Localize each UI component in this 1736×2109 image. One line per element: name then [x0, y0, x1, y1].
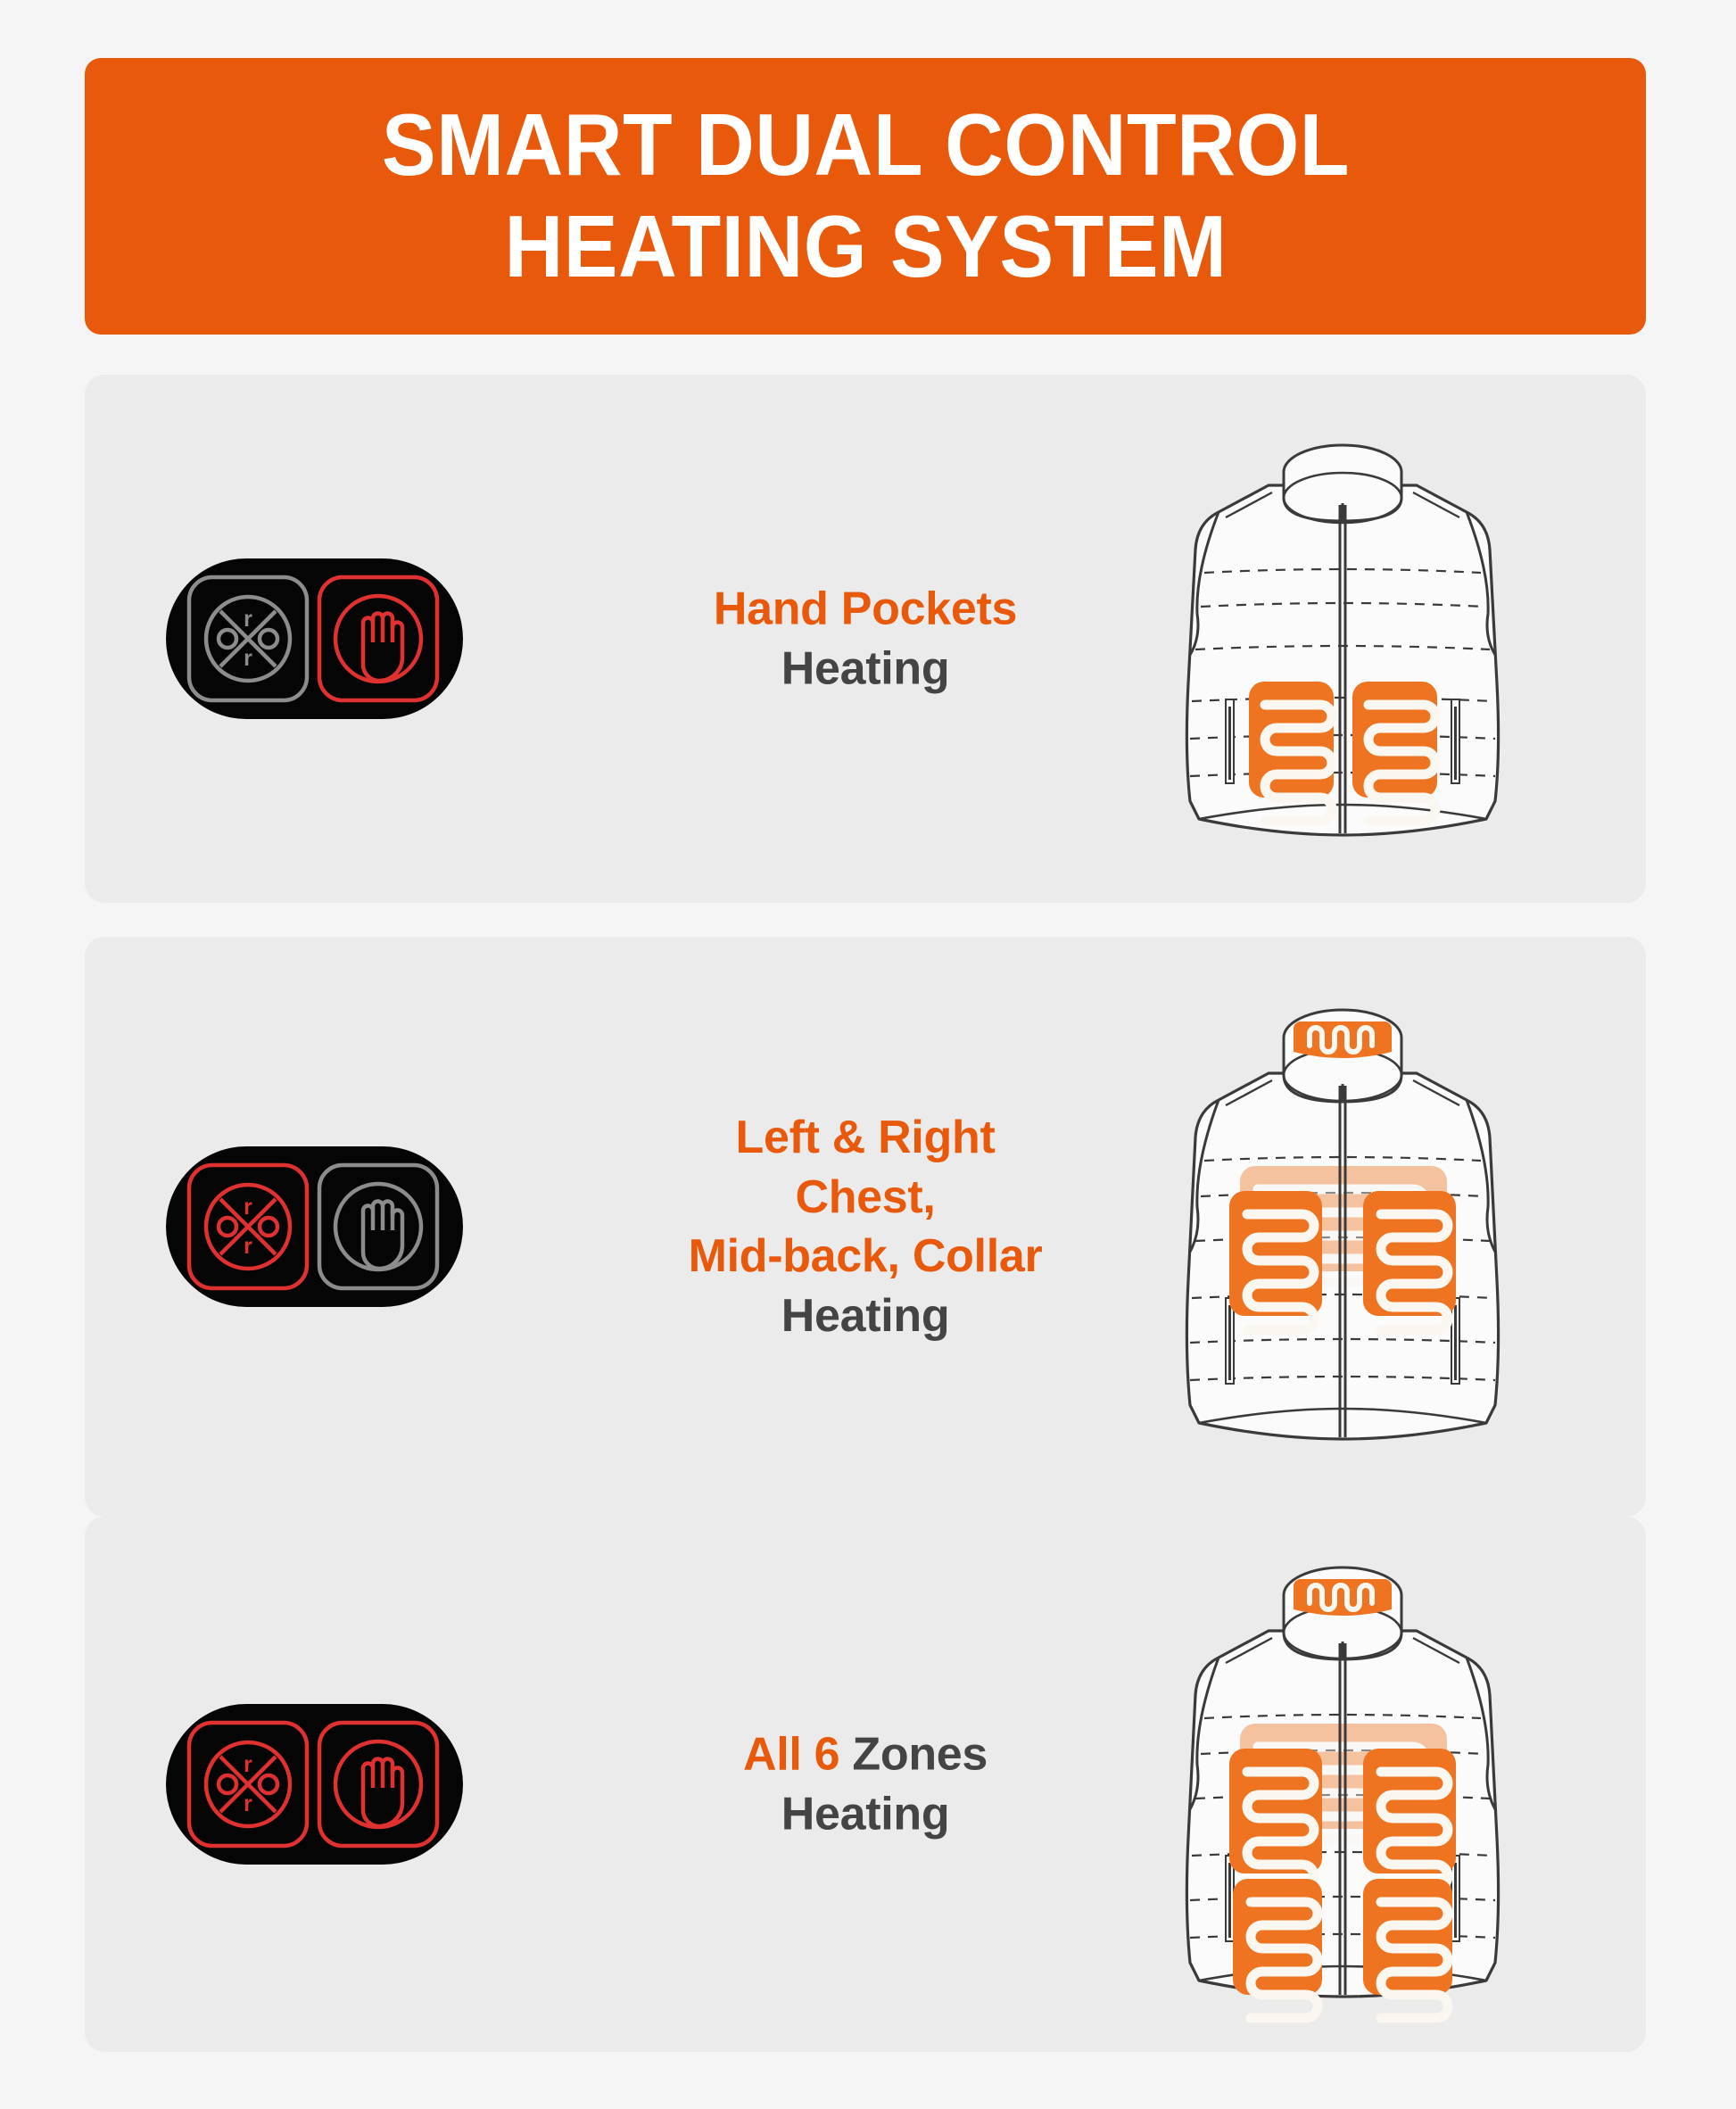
panel-card-chest-midback-collar: r r Left & Right Chest: [85, 937, 1646, 1517]
heat-zone-right-chest: [1363, 1749, 1456, 1888]
caption-title: All 6 Zones: [580, 1724, 1151, 1784]
header-banner: SMART DUAL CONTROL HEATING SYSTEM: [85, 58, 1646, 335]
controller-chest-midback-collar[interactable]: r r: [165, 1145, 464, 1308]
caption-subtitle: Heating: [580, 1784, 1151, 1844]
caption-title-line-2: Chest,: [580, 1167, 1151, 1227]
caption-count: All 6: [743, 1728, 839, 1780]
caption-title: Hand Pockets: [580, 579, 1151, 639]
caption-zones-word: Zones: [839, 1728, 988, 1780]
controller-body: [166, 1146, 463, 1307]
vest-illustration-all-zones: [1133, 1534, 1552, 2034]
caption-subtitle: Heating: [580, 1286, 1151, 1346]
heat-zone-left-chest: [1229, 1191, 1322, 1330]
ororo-logo-icon: r r: [206, 1742, 290, 1826]
caption-subtitle: Heating: [580, 639, 1151, 699]
svg-text:r: r: [244, 1752, 252, 1777]
header-title-line-2: HEATING SYSTEM: [504, 196, 1227, 298]
svg-text:r: r: [244, 1791, 252, 1816]
caption-hand-pockets: Hand Pockets Heating: [580, 579, 1151, 698]
caption-title-line-3: Mid-back, Collar: [580, 1227, 1151, 1286]
panel-card-hand-pockets: r r Hand Poc: [85, 375, 1646, 903]
svg-text:r: r: [244, 1195, 252, 1220]
heat-zone-collar: [1294, 1579, 1392, 1616]
heat-zone-right-chest: [1363, 1191, 1456, 1330]
vest-illustration-hand-pockets: [1133, 416, 1552, 862]
controller-all-zones[interactable]: r r: [165, 1703, 464, 1865]
controller-hand-pockets[interactable]: r r: [165, 558, 464, 720]
heat-zone-right-hand-pocket: [1363, 1879, 1452, 2018]
vest-illustration-chest-midback-collar: [1133, 977, 1552, 1476]
infographic-page: SMART DUAL CONTROL HEATING SYSTEM: [0, 0, 1736, 2109]
heat-zone-left-hand-pocket: [1233, 1879, 1322, 2018]
header-title-line-1: SMART DUAL CONTROL: [381, 95, 1349, 196]
ororo-logo-icon: r r: [206, 597, 290, 681]
caption-chest-midback-collar: Left & Right Chest, Mid-back, Collar Hea…: [580, 1108, 1151, 1345]
svg-text:r: r: [244, 607, 252, 632]
heat-zone-collar: [1294, 1021, 1392, 1058]
ororo-logo-icon: r r: [206, 1185, 290, 1269]
heat-zone-left-chest: [1229, 1749, 1322, 1888]
panel-card-all-zones: r r All 6 Zones Heatin: [85, 1517, 1646, 2052]
svg-text:r: r: [244, 1234, 252, 1259]
controller-body: [166, 558, 463, 719]
svg-text:r: r: [244, 646, 252, 671]
controller-body: [166, 1704, 463, 1865]
caption-all-zones: All 6 Zones Heating: [580, 1724, 1151, 1843]
caption-title-line-1: Left & Right: [580, 1108, 1151, 1168]
